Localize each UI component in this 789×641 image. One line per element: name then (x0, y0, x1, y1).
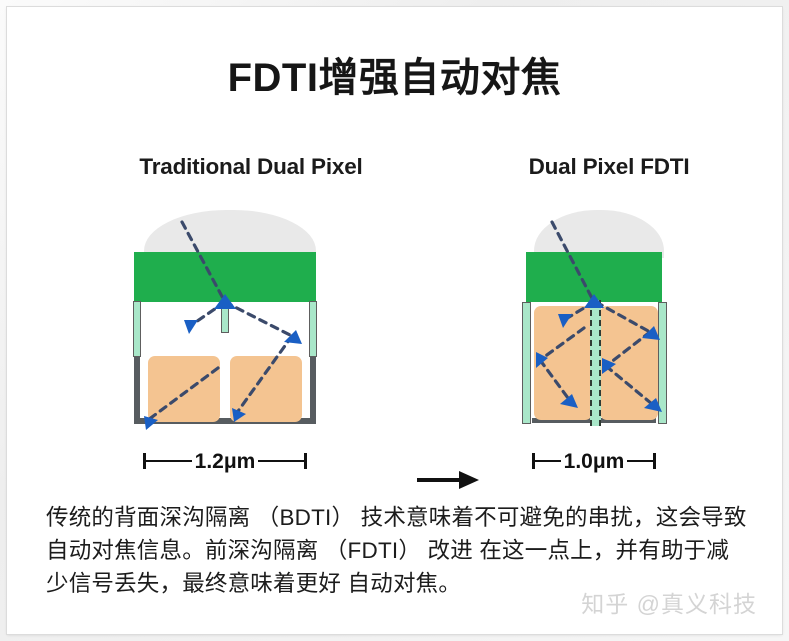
scale-line-left (146, 460, 192, 463)
panel-dual-pixel-fdti: Dual Pixel FDTI (484, 154, 734, 494)
light-ray-overlay-left (106, 208, 396, 438)
ray-arrowheads-left (144, 294, 302, 430)
scale-bar-right: 1.0μm (526, 450, 662, 472)
scale-label-left: 1.2μm (192, 451, 259, 472)
scale-line-right (258, 460, 304, 463)
ray-arrowheads-right (536, 294, 662, 412)
scale-cap-right (304, 453, 307, 469)
light-ray-overlay-right (484, 208, 734, 438)
scale-line-left (535, 460, 561, 463)
panel-title-fdti: Dual Pixel FDTI (484, 154, 734, 180)
diagram-area: Traditional Dual Pixel (14, 154, 775, 494)
scale-label-right: 1.0μm (561, 451, 628, 472)
figure-dual-pixel-fdti (484, 208, 734, 438)
watermark: 知乎 @真义科技 (581, 585, 757, 619)
scale-bar-left: 1.2μm (134, 450, 316, 472)
page-title: FDTI增强自动对焦 (14, 58, 775, 98)
slide-canvas: FDTI增强自动对焦 Traditional Dual Pixel (14, 14, 775, 627)
scale-line-right (627, 460, 653, 463)
panel-traditional-dual-pixel: Traditional Dual Pixel (106, 154, 396, 494)
panel-title-traditional: Traditional Dual Pixel (106, 154, 396, 180)
slide-outer-frame: FDTI增强自动对焦 Traditional Dual Pixel (0, 0, 789, 641)
transition-arrow-icon (417, 469, 479, 491)
scale-cap-right (653, 453, 656, 469)
figure-traditional-dual-pixel (106, 208, 396, 438)
